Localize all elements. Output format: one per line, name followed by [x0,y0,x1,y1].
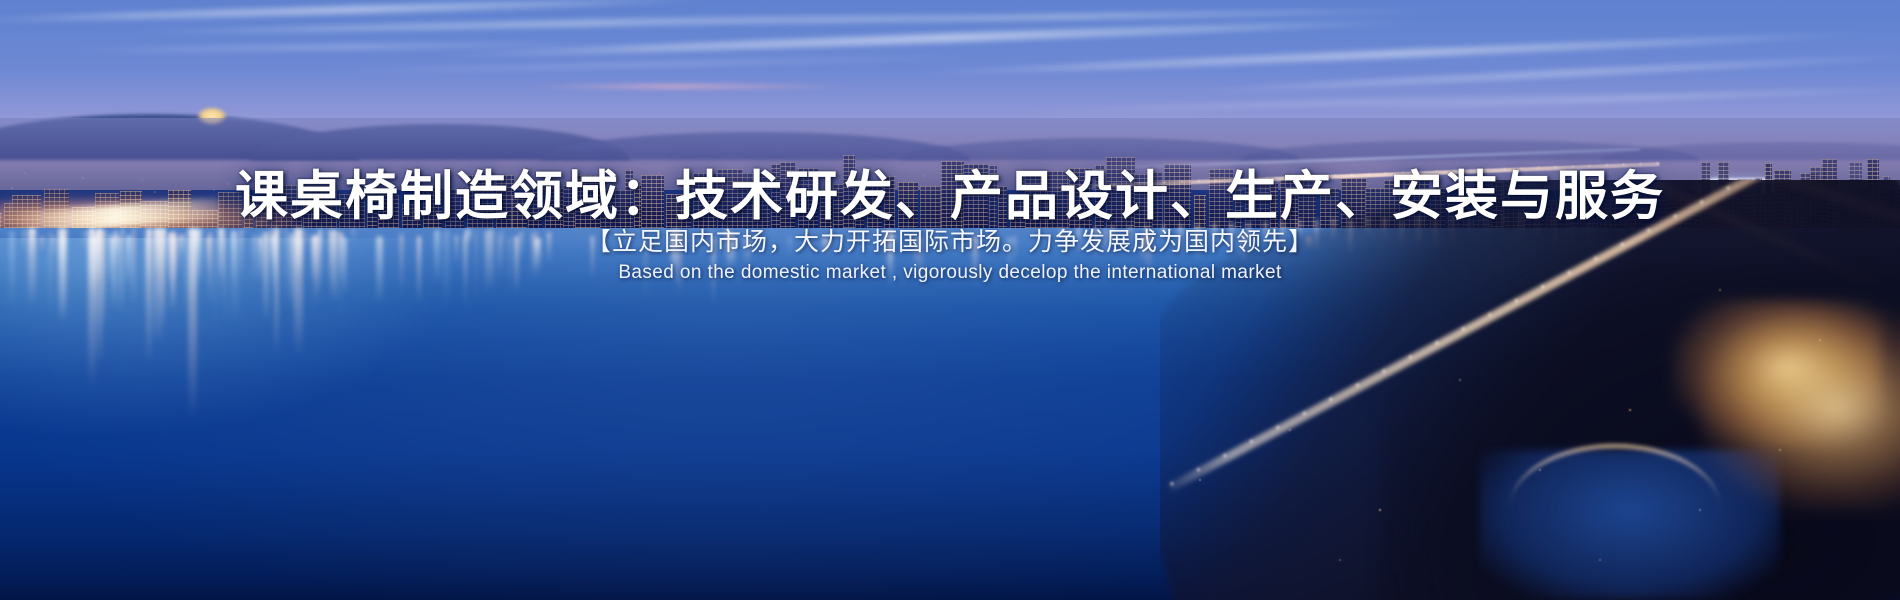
banner-headline: 课桌椅制造领域：技术研发、产品设计、生产、安装与服务 [0,154,1900,230]
cirrus-cloud-streak [60,40,620,54]
banner-subheadline: 【立足国内市场，大力开拓国际市场。力争发展成为国内领先】 [0,222,1900,258]
cirrus-cloud-streak [120,11,1020,37]
hero-banner: 课桌椅制造领域：技术研发、产品设计、生产、安装与服务 【立足国内市场，大力开拓国… [0,0,1900,600]
banner-english-tagline: Based on the domestic market , vigorousl… [0,262,1900,284]
cirrus-cloud-streak [640,7,1460,27]
cirrus-cloud-streak [900,29,1879,78]
cirrus-cloud-streak [0,0,720,25]
pink-cloud-streak [520,84,860,89]
cirrus-cloud-streak [430,17,1430,61]
cirrus-cloud-streak [1180,51,1900,95]
cirrus-cloud-streak [300,53,1000,75]
